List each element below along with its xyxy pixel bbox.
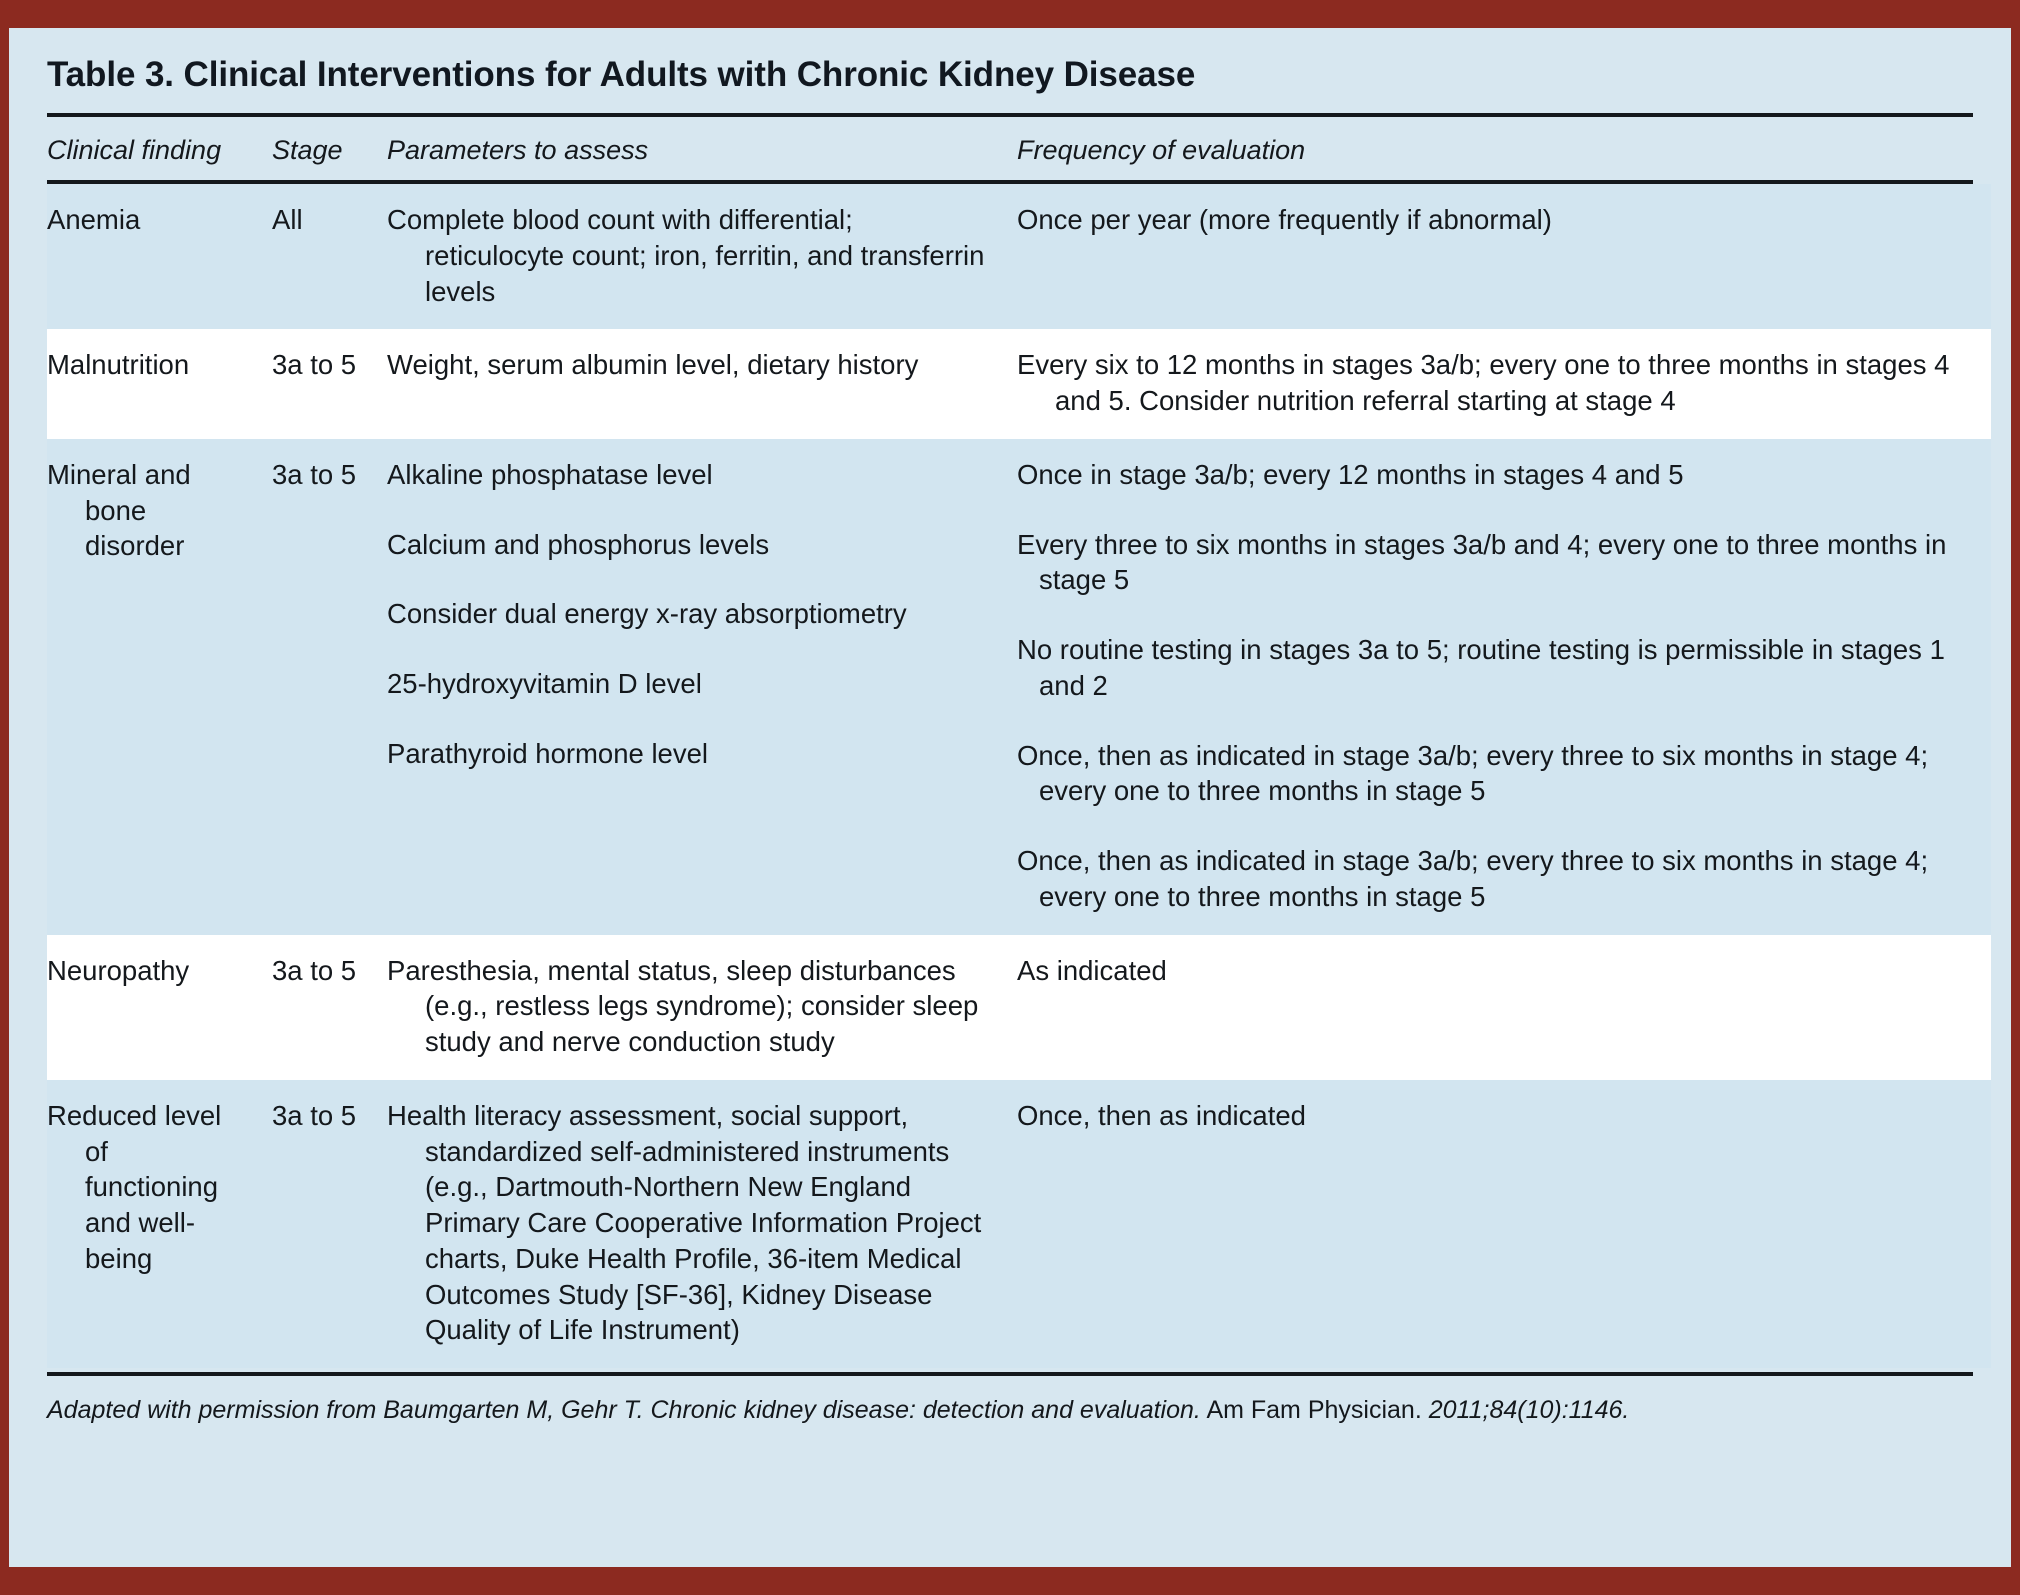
cell-stage: 3a to 5 — [272, 439, 387, 935]
table-row: Neuropathy 3a to 5 Paresthesia, mental s… — [47, 935, 1991, 1080]
cell-frequency: Once in stage 3a/b; every 12 months in s… — [1017, 439, 1991, 935]
column-header-clinical-finding: Clinical finding — [47, 117, 272, 180]
finding-line-1: Mineral and — [47, 459, 191, 490]
frequency-text: Once in stage 3a/b; every 12 months in s… — [1017, 457, 1965, 493]
table-row: Mineral and bone disorder 3a to 5 Alkali… — [47, 439, 1991, 935]
cell-stage: 3a to 5 — [272, 1080, 387, 1368]
finding-line-1: Anemia — [47, 204, 140, 235]
footnote-part-1: Adapted with permission from Baumgarten … — [47, 1396, 1201, 1424]
cell-clinical-finding: Reduced level of functioning and well-be… — [47, 1080, 272, 1368]
table-header-row: Clinical finding Stage Parameters to ass… — [47, 117, 1991, 180]
finding-line-1: Neuropathy — [47, 955, 189, 986]
column-header-stage: Stage — [272, 117, 387, 180]
cell-frequency: Once, then as indicated — [1017, 1080, 1991, 1368]
cell-frequency: As indicated — [1017, 935, 1991, 1080]
frequency-text: Once, then as indicated — [1017, 1098, 1965, 1134]
source-footnote: Adapted with permission from Baumgarten … — [47, 1376, 1973, 1427]
parameter-text: Consider dual energy x-ray absorptiometr… — [387, 596, 991, 632]
cell-parameters: Alkaline phosphatase level Calcium and p… — [387, 439, 1017, 935]
table-header: Clinical finding Stage Parameters to ass… — [47, 117, 1991, 180]
cell-parameters: Weight, serum albumin level, dietary his… — [387, 329, 1017, 439]
table-body-rows: Anemia All Complete blood count with dif… — [47, 184, 1991, 1368]
footnote-part-2: Am Fam Physician. — [1206, 1396, 1421, 1424]
parameter-text: 25-hydroxyvitamin D level — [387, 666, 991, 702]
finding-line-3: and well-being — [85, 1207, 195, 1274]
finding-line-1: Reduced level — [47, 1100, 221, 1131]
parameter-text: Parathyroid hormone level — [387, 736, 991, 772]
frequency-text: No routine testing in stages 3a to 5; ro… — [1017, 632, 1965, 704]
cell-frequency: Every six to 12 months in stages 3a/b; e… — [1017, 329, 1991, 439]
column-header-frequency: Frequency of evaluation — [1017, 117, 1991, 180]
cell-parameters: Health literacy assessment, social suppo… — [387, 1080, 1017, 1368]
frequency-text: As indicated — [1017, 953, 1965, 989]
parameter-text: Alkaline phosphatase level — [387, 457, 991, 493]
table-body: Table 3. Clinical Interventions for Adul… — [9, 28, 2011, 1567]
parameter-text: Complete blood count with differential; … — [387, 202, 991, 309]
table-row: Anemia All Complete blood count with dif… — [47, 184, 1991, 329]
cell-clinical-finding: Anemia — [47, 184, 272, 329]
cell-clinical-finding: Malnutrition — [47, 329, 272, 439]
cell-stage: 3a to 5 — [272, 935, 387, 1080]
finding-line-2: bone disorder — [85, 495, 184, 562]
cell-stage: 3a to 5 — [272, 329, 387, 439]
finding-line-2: of functioning — [85, 1136, 218, 1203]
parameter-text: Paresthesia, mental status, sleep distur… — [387, 953, 991, 1060]
finding-line-1: Malnutrition — [47, 349, 189, 380]
frequency-text: Once, then as indicated in stage 3a/b; e… — [1017, 843, 1965, 915]
parameter-text: Weight, serum albumin level, dietary his… — [387, 347, 991, 383]
page-title: Table 3. Clinical Interventions for Adul… — [47, 28, 1973, 105]
cell-clinical-finding: Neuropathy — [47, 935, 272, 1080]
parameter-text: Health literacy assessment, social suppo… — [387, 1098, 991, 1348]
frequency-text: Every three to six months in stages 3a/b… — [1017, 527, 1965, 599]
cell-stage: All — [272, 184, 387, 329]
cell-frequency: Once per year (more frequently if abnorm… — [1017, 184, 1991, 329]
table-row: Malnutrition 3a to 5 Weight, serum album… — [47, 329, 1991, 439]
cell-parameters: Paresthesia, mental status, sleep distur… — [387, 935, 1017, 1080]
parameter-text: Calcium and phosphorus levels — [387, 527, 991, 563]
frequency-text: Every six to 12 months in stages 3a/b; e… — [1017, 347, 1965, 419]
table-row: Reduced level of functioning and well-be… — [47, 1080, 1991, 1368]
column-header-parameters: Parameters to assess — [387, 117, 1017, 180]
frequency-text: Once per year (more frequently if abnorm… — [1017, 202, 1965, 238]
frequency-text: Once, then as indicated in stage 3a/b; e… — [1017, 738, 1965, 810]
interventions-table-body: Anemia All Complete blood count with dif… — [47, 184, 1991, 1368]
footnote-part-3: 2011;84(10):1146. — [1429, 1396, 1630, 1424]
cell-parameters: Complete blood count with differential; … — [387, 184, 1017, 329]
cell-clinical-finding: Mineral and bone disorder — [47, 439, 272, 935]
table-figure: Table 3. Clinical Interventions for Adul… — [0, 0, 2020, 1595]
interventions-table: Clinical finding Stage Parameters to ass… — [47, 117, 1991, 180]
